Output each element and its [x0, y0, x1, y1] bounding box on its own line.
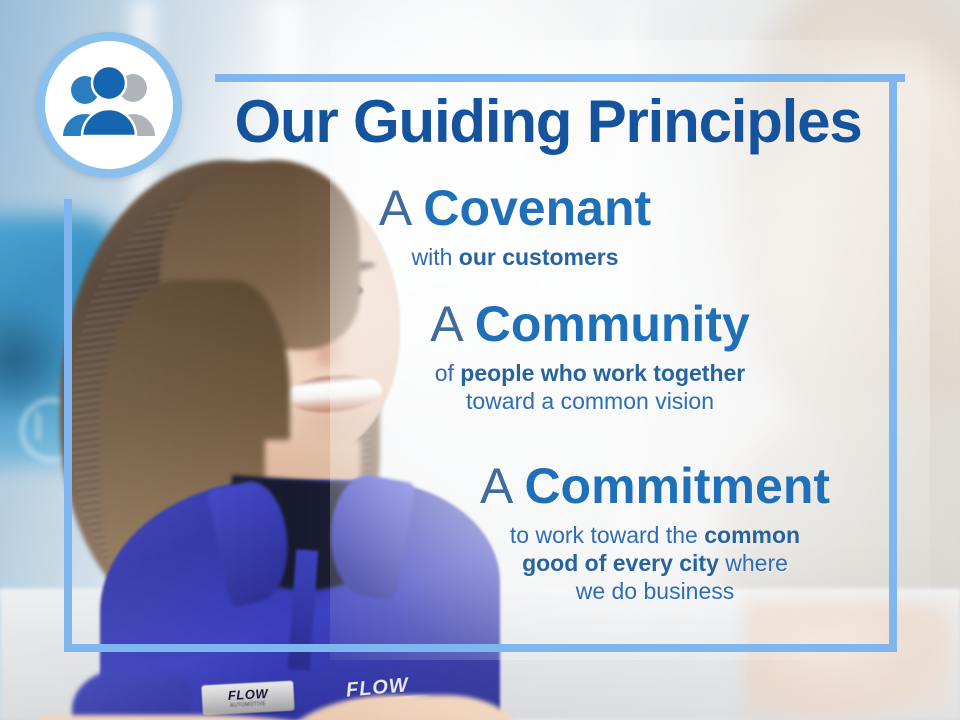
promotional-graphic: FLOW AUTOMOTIVE FLOW Our Guid: [0, 0, 960, 720]
principle-word: Community: [475, 296, 750, 352]
subtext-run: toward a common vision: [466, 388, 714, 414]
principle-subtext-line: we do business: [410, 577, 900, 605]
subtext-run: with: [411, 244, 458, 270]
principle-subtext-line: to work toward the common: [410, 521, 900, 549]
principle-headline: A Commitment: [410, 460, 900, 512]
principle-subtext-line: of people who work together: [355, 359, 825, 387]
subtext-run: to work toward the: [510, 522, 704, 548]
principle-block-covenant: A Covenant with our customers: [300, 182, 730, 271]
principle-headline: A Community: [355, 298, 825, 350]
frame-border-left: [64, 199, 72, 652]
principle-word: Covenant: [423, 180, 651, 236]
principle-subtext: to work toward the commongood of every c…: [410, 521, 900, 605]
page-title: Our Guiding Principles: [218, 92, 878, 152]
subtext-emphasis: common: [704, 522, 800, 548]
subtext-emphasis: good of every city: [522, 550, 719, 576]
frame-border-bottom: [64, 644, 897, 652]
principle-article: A: [480, 458, 511, 514]
principle-article: A: [379, 180, 410, 236]
employee-sleeve: [72, 670, 192, 720]
subtext-run: we do business: [576, 578, 735, 604]
principle-subtext: with our customers: [300, 243, 730, 271]
subtext-emphasis: people who work together: [460, 360, 745, 386]
principle-block-community: A Community of people who work togethert…: [355, 298, 825, 415]
principle-article: A: [430, 296, 461, 352]
group-of-people-icon: [36, 32, 182, 178]
frame-border-top: [215, 74, 905, 82]
subtext-emphasis: our customers: [459, 244, 619, 270]
subtext-run: of: [435, 360, 461, 386]
subtext-run: where: [719, 550, 788, 576]
principle-word: Commitment: [524, 458, 830, 514]
principle-subtext-line: with our customers: [300, 243, 730, 271]
principle-headline: A Covenant: [300, 182, 730, 234]
principle-subtext-line: good of every city where: [410, 549, 900, 577]
principle-subtext: of people who work togethertoward a comm…: [355, 359, 825, 415]
customer-hand: [745, 600, 955, 720]
principle-block-commitment: A Commitment to work toward the commongo…: [410, 460, 900, 605]
principle-subtext-line: toward a common vision: [355, 387, 825, 415]
